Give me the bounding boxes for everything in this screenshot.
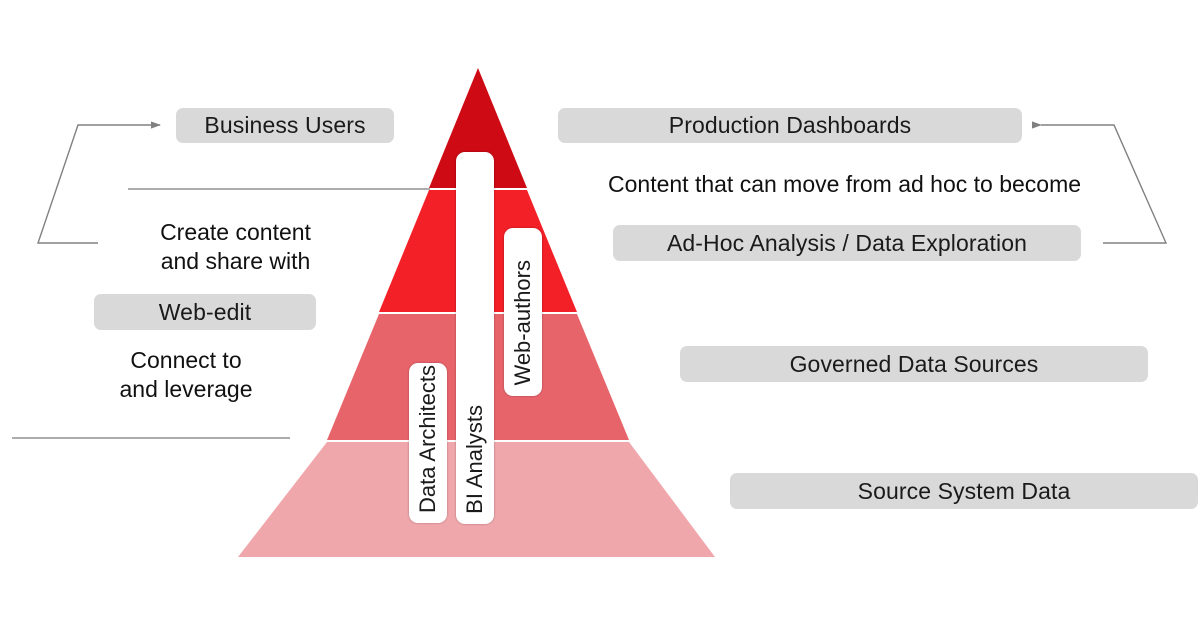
role-tab-bi-analysts[interactable]: BI Analysts [456, 152, 494, 524]
label-content-move: Content that can move from ad hoc to bec… [608, 170, 1124, 199]
role-tab-web-authors-label: Web-authors [512, 248, 534, 396]
pill-source-system-data[interactable]: Source System Data [730, 473, 1198, 509]
pill-business-users[interactable]: Business Users [176, 108, 394, 143]
role-tab-data-architects-label: Data Architects [417, 363, 439, 523]
pill-adhoc-analysis[interactable]: Ad-Hoc Analysis / Data Exploration [613, 225, 1081, 261]
pill-governed-data-sources[interactable]: Governed Data Sources [680, 346, 1148, 382]
role-tab-data-architects[interactable]: Data Architects [409, 363, 447, 523]
diagram-canvas: Business Users Create content and share … [0, 0, 1200, 630]
role-tab-bi-analysts-label: BI Analysts [464, 393, 486, 524]
label-connect-and-leverage: Connect to and leverage [70, 346, 302, 404]
pill-production-dashboards[interactable]: Production Dashboards [558, 108, 1022, 143]
pill-web-edit[interactable]: Web-edit [94, 294, 316, 330]
label-create-and-share: Create content and share with [98, 218, 373, 276]
role-tab-web-authors[interactable]: Web-authors [504, 228, 542, 396]
